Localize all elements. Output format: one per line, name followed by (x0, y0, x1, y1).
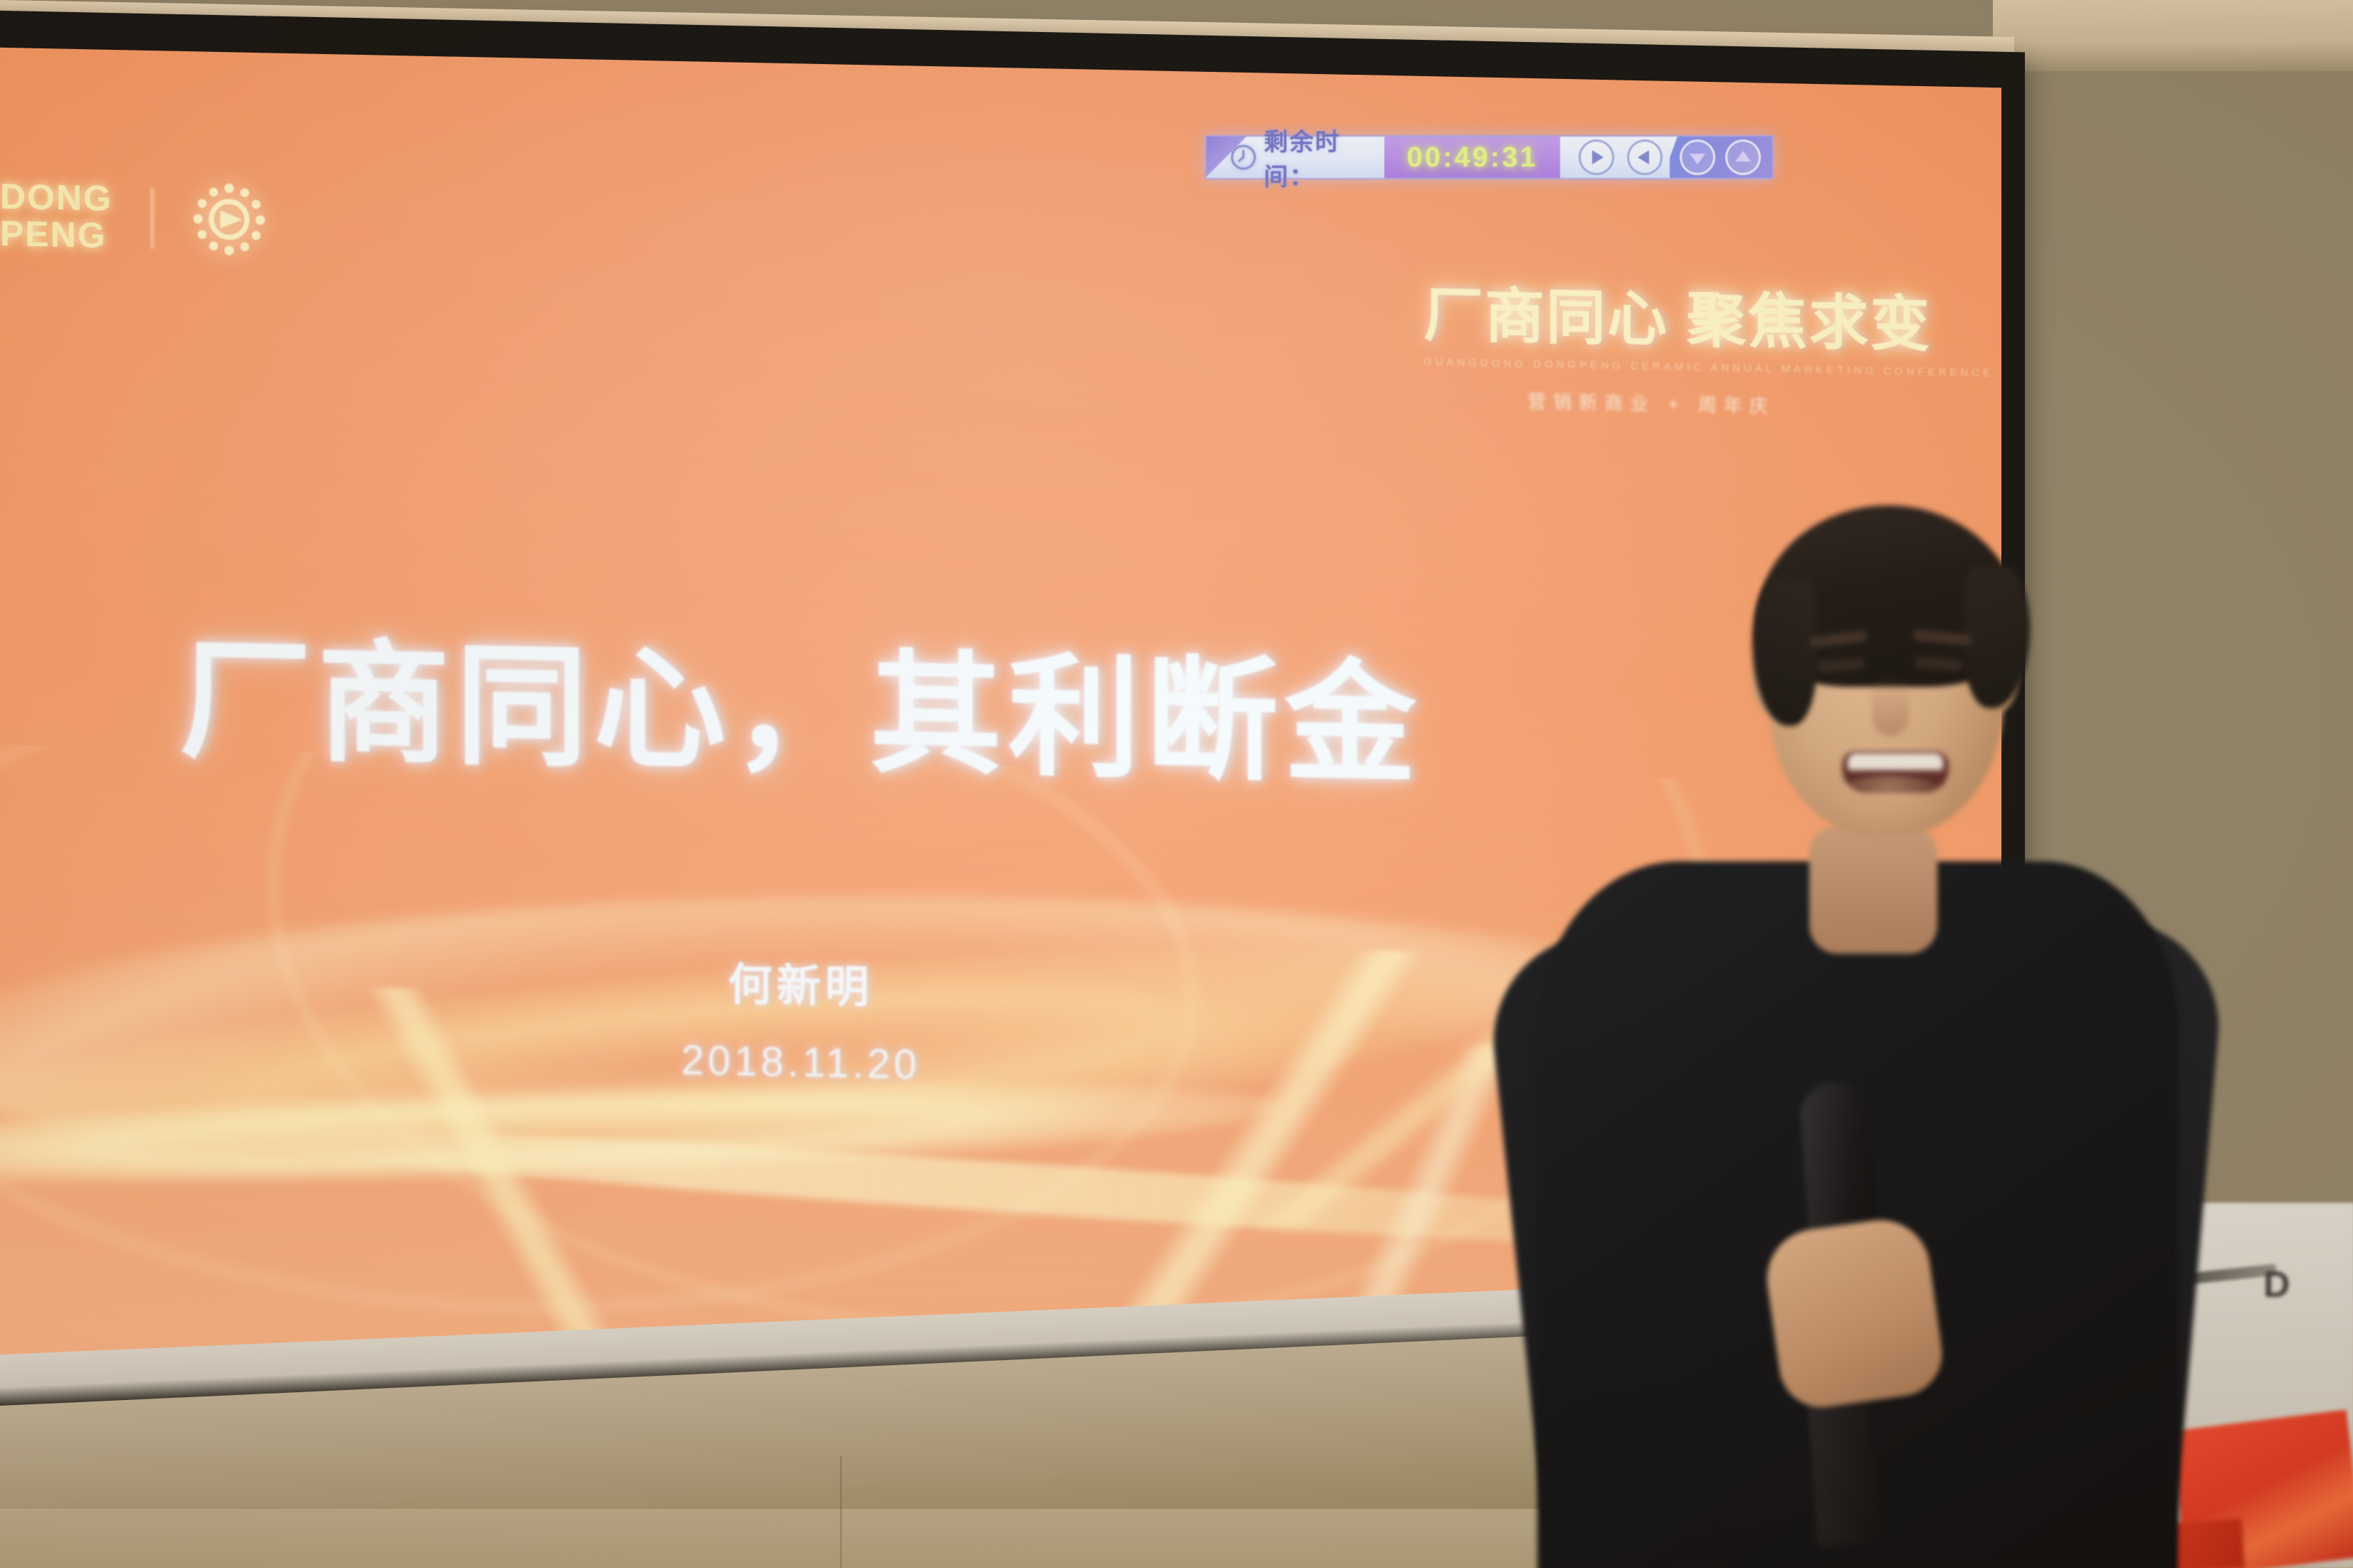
timer-controls-secondary (1670, 137, 1772, 178)
countdown-timer-bar[interactable]: 剩余时间： 00:49:31 (1205, 135, 1774, 179)
wall-seam-2 (840, 1456, 842, 1568)
timer-value: 00:49:31 (1384, 137, 1560, 178)
chin-highlight (1822, 776, 1957, 840)
conference-photo: 东 鹏 DONG PENG (0, 0, 2353, 1568)
hand (1761, 1214, 1948, 1413)
down-button[interactable] (1680, 140, 1715, 175)
timer-controls-primary (1560, 137, 1670, 178)
play-button[interactable] (1579, 140, 1614, 175)
timer-label: 剩余时间： (1263, 137, 1384, 178)
back-button[interactable] (1627, 140, 1663, 175)
teeth (1848, 753, 1943, 770)
up-button[interactable] (1725, 140, 1761, 175)
presenter (1559, 491, 2171, 1568)
nose (1872, 675, 1909, 736)
lectern-logo: D (2263, 1263, 2293, 1306)
hair-side-right (1964, 566, 2030, 708)
neck (1809, 826, 1937, 954)
